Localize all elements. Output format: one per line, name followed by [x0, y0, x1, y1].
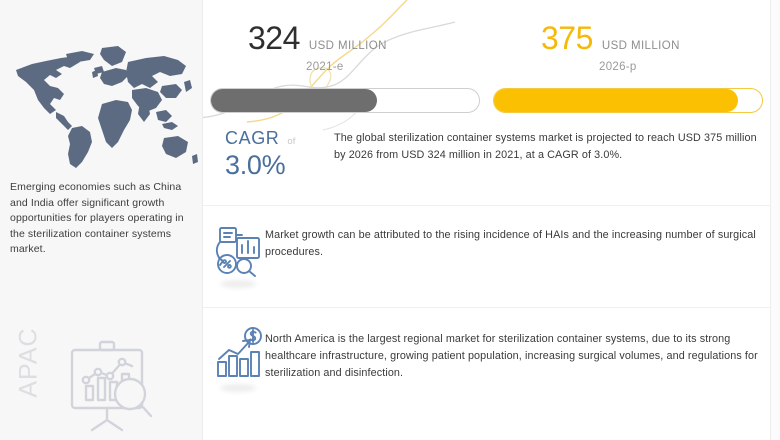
icon-shadow [220, 384, 256, 392]
stat-forecast-year-label: 2026-p [599, 61, 680, 73]
stat-base-value: 324 [248, 22, 300, 54]
cagr-description-row: CAGR of 3.0% The global sterilization co… [203, 122, 771, 200]
icon-shadow [220, 280, 256, 288]
insight-text-market-growth: Market growth can be attributed to the r… [265, 227, 761, 261]
progress-bar-forecast-fill [494, 89, 738, 112]
insight-item-market-growth: Market growth can be attributed to the r… [203, 218, 771, 298]
cagr-label: CAGR [225, 128, 279, 149]
stat-forecast-year: 375 USD MILLION 2026-p [541, 22, 680, 73]
market-description: The global sterilization container syste… [334, 130, 764, 164]
progress-bar-base [210, 88, 480, 113]
main-panel: 324 USD MILLION 2021-e 375 USD MILLION 2… [203, 0, 771, 440]
divider-bottom [203, 307, 771, 308]
stat-base-year: 324 USD MILLION 2021-e [248, 22, 387, 73]
divider-top [203, 205, 771, 206]
stat-base-year-label: 2021-e [306, 61, 387, 73]
insight-text-north-america: North America is the largest regional ma… [265, 331, 761, 382]
region-label-apac: APAC [15, 308, 44, 418]
stats-row: 324 USD MILLION 2021-e 375 USD MILLION 2… [203, 0, 771, 120]
market-analytics-icon [211, 222, 265, 278]
sidebar: Emerging economies such as China and Ind… [0, 0, 203, 440]
stat-base-unit: USD MILLION [309, 40, 387, 52]
infographic-root: Emerging economies such as China and Ind… [0, 0, 780, 440]
progress-bar-forecast [493, 88, 763, 113]
stat-forecast-value: 375 [541, 22, 593, 54]
presentation-chart-magnifier-icon [58, 332, 162, 436]
sidebar-note: Emerging economies such as China and Ind… [10, 180, 196, 258]
insight-item-north-america: North America is the largest regional ma… [203, 322, 771, 417]
cagr-of-label: of [287, 136, 295, 147]
right-gutter [771, 0, 780, 440]
progress-bar-base-fill [211, 89, 377, 112]
stat-forecast-unit: USD MILLION [602, 40, 680, 52]
world-map-icon [6, 42, 202, 176]
growth-chart-dollar-icon [211, 326, 265, 382]
